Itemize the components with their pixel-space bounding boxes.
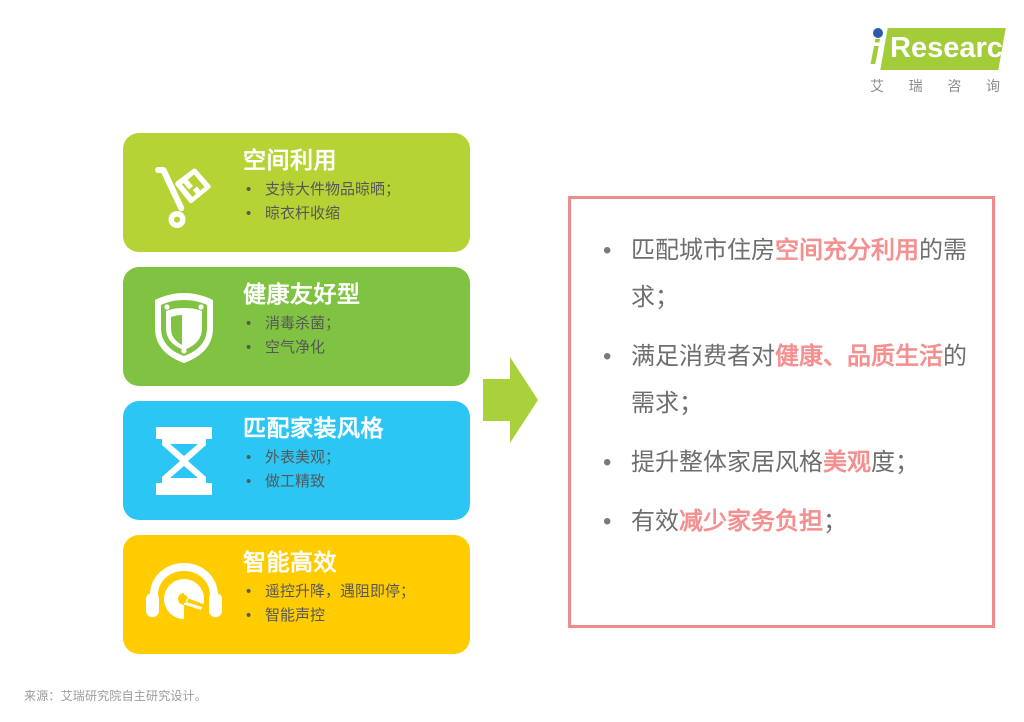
card-bullet: 做工精致 — [243, 470, 460, 494]
logo-blue-dot-icon — [873, 28, 883, 38]
iresearch-logo: i Research 艾 瑞 咨 询 — [862, 22, 1004, 100]
card-bullet: 支持大件物品晾晒； — [243, 178, 460, 202]
card-bullet: 空气净化 — [243, 336, 460, 360]
card-title: 智能高效 — [243, 547, 460, 577]
headset-icon — [141, 552, 227, 638]
benefit-item: 满足消费者对健康、品质生活的需求； — [595, 333, 970, 427]
card-bullet: 外表美观； — [243, 446, 460, 470]
hourglass-icon — [141, 418, 227, 504]
card-bullet: 遥控升降，遇阻即停； — [243, 580, 460, 604]
card-body: 匹配家装风格 外表美观； 做工精致 — [243, 413, 460, 494]
card-bullet: 消毒杀菌； — [243, 312, 460, 336]
arrow-shape — [483, 357, 538, 443]
source-note: 来源：艾瑞研究院自主研究设计。 — [24, 687, 207, 704]
benefit-text-plain: 满足消费者对 — [631, 343, 775, 370]
card-title: 匹配家装风格 — [243, 413, 460, 443]
benefits-panel: 匹配城市住房空间充分利用的需求； 满足消费者对健康、品质生活的需求； 提升整体家… — [568, 196, 995, 628]
card-bullet-list: 遥控升降，遇阻即停； 智能声控 — [243, 580, 460, 628]
logo-mark: i Research — [862, 22, 1004, 74]
benefit-text-plain: ； — [823, 508, 847, 535]
benefit-text-plain: 有效 — [631, 508, 679, 535]
benefit-text-plain: 提升整体家居风格 — [631, 449, 823, 476]
shield-icon — [141, 284, 227, 370]
card-bullet: 晾衣杆收缩 — [243, 202, 460, 226]
feature-card-smart-efficient[interactable]: 智能高效 遥控升降，遇阻即停； 智能声控 — [123, 535, 470, 654]
card-bullet-list: 支持大件物品晾晒； 晾衣杆收缩 — [243, 178, 460, 226]
card-title: 健康友好型 — [243, 279, 460, 309]
card-title: 空间利用 — [243, 145, 460, 175]
benefit-list: 匹配城市住房空间充分利用的需求； 满足消费者对健康、品质生活的需求； 提升整体家… — [571, 199, 992, 545]
benefit-item: 有效减少家务负担； — [595, 498, 970, 545]
card-bullet-list: 外表美观； 做工精致 — [243, 446, 460, 494]
card-body: 健康友好型 消毒杀菌； 空气净化 — [243, 279, 460, 360]
logo-chinese-name: 艾 瑞 咨 询 — [866, 76, 1004, 96]
benefit-text-highlight: 健康、品质生活 — [775, 343, 943, 370]
logo-letter-i: i — [870, 36, 878, 70]
card-body: 空间利用 支持大件物品晾晒； 晾衣杆收缩 — [243, 145, 460, 226]
feature-card-list: 空间利用 支持大件物品晾晒； 晾衣杆收缩 健康友好型 消毒杀菌； 空气净化 — [123, 133, 470, 654]
benefit-item: 提升整体家居风格美观度； — [595, 439, 970, 486]
feature-card-health-friendly[interactable]: 健康友好型 消毒杀菌； 空气净化 — [123, 267, 470, 386]
benefit-text-plain: 度； — [871, 449, 919, 476]
feature-card-space-utilization[interactable]: 空间利用 支持大件物品晾晒； 晾衣杆收缩 — [123, 133, 470, 252]
card-bullet: 智能声控 — [243, 604, 460, 628]
logo-cn-char-4: 询 — [986, 76, 1000, 96]
feature-card-decor-style[interactable]: 匹配家装风格 外表美观； 做工精致 — [123, 401, 470, 520]
logo-cn-char-1: 艾 — [870, 76, 884, 96]
hand-truck-icon — [141, 150, 227, 236]
benefit-text-highlight: 美观 — [823, 449, 871, 476]
logo-cn-char-2: 瑞 — [909, 76, 923, 96]
benefit-text-highlight: 空间充分利用 — [775, 237, 919, 264]
benefit-text-plain: 匹配城市住房 — [631, 237, 775, 264]
logo-wordmark: Research — [890, 31, 1021, 65]
logo-cn-char-3: 咨 — [947, 76, 961, 96]
benefit-text-highlight: 减少家务负担 — [679, 508, 823, 535]
card-body: 智能高效 遥控升降，遇阻即停； 智能声控 — [243, 547, 460, 628]
benefit-item: 匹配城市住房空间充分利用的需求； — [595, 227, 970, 321]
card-bullet-list: 消毒杀菌； 空气净化 — [243, 312, 460, 360]
green-right-arrow-icon — [483, 355, 538, 445]
